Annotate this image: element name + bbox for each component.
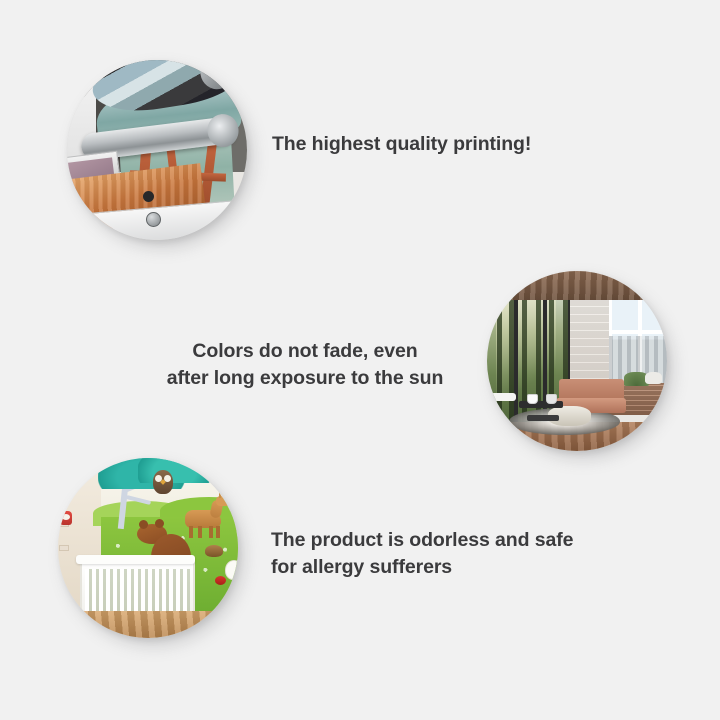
feature-image-fade-resistance	[487, 271, 667, 451]
vase	[645, 372, 661, 385]
crib-rail	[76, 555, 195, 564]
feature-caption-printing: The highest quality printing!	[272, 131, 531, 158]
wooden-ceiling	[487, 271, 667, 300]
mural-tree-canopy	[138, 458, 211, 483]
deer-leg	[209, 526, 213, 538]
deer-antler	[219, 489, 221, 498]
feature-image-odorless-safe	[58, 458, 238, 638]
mural-goose	[225, 560, 238, 580]
feature-image-printing	[67, 60, 247, 240]
red-toy	[60, 511, 72, 525]
machine-bolt	[143, 191, 154, 202]
promo-feature-board: The highest quality printing!	[0, 0, 720, 720]
side-table	[489, 393, 516, 400]
feature-caption-odorless-safe: The product is odorless and safe for all…	[271, 527, 573, 581]
forest-mural-living-room-illustration	[487, 271, 667, 451]
printing-machine-illustration	[67, 60, 247, 240]
mural-panel-divider	[514, 291, 518, 431]
cup	[546, 394, 557, 404]
feature-caption-fade-resistance: Colors do not fade, even after long expo…	[150, 338, 460, 392]
mural-tree	[497, 294, 502, 427]
cup	[527, 394, 538, 404]
wooden-floor	[58, 611, 238, 638]
mural-hedgehog	[205, 545, 223, 557]
mural-owl	[153, 470, 173, 494]
deer-leg	[198, 526, 202, 538]
deer-leg	[216, 526, 220, 538]
nursery-mural-illustration	[58, 458, 238, 638]
wall-shelf	[59, 545, 69, 552]
side-coffee-table	[527, 415, 559, 421]
mural-ladybug	[215, 576, 226, 585]
